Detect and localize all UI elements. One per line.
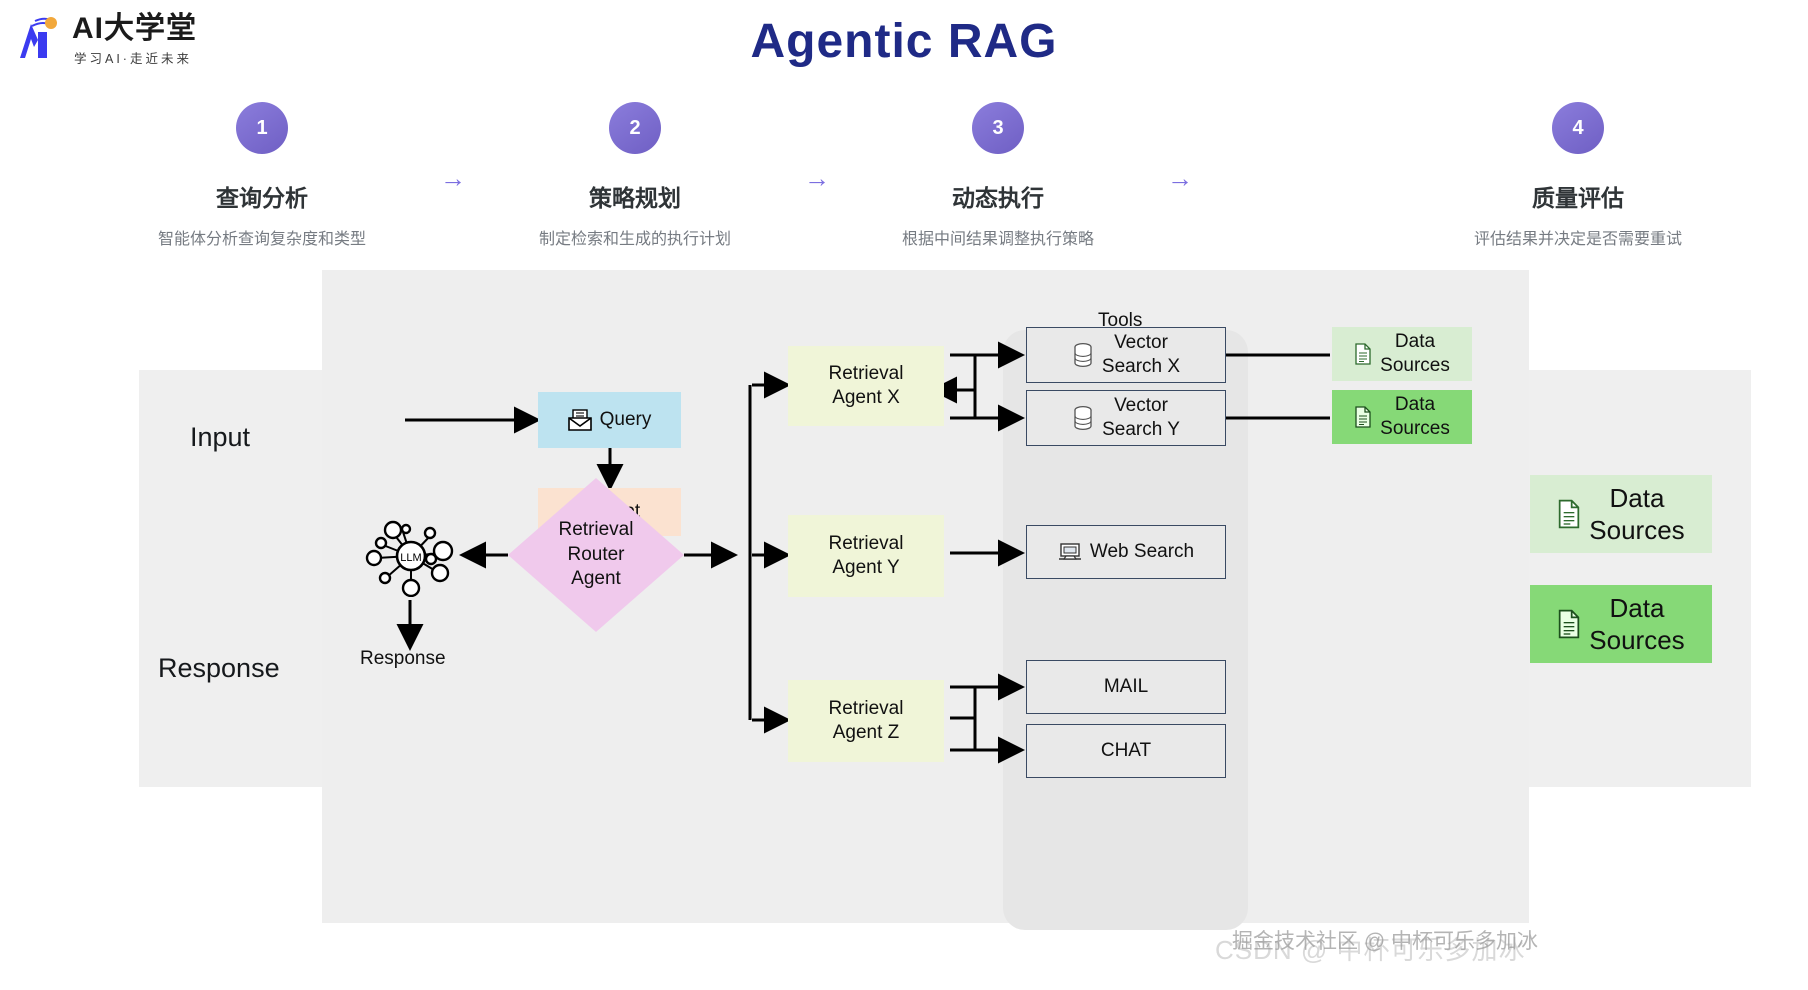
llm-network-icon: LLM	[365, 515, 457, 597]
watermark-juejin: 掘金技术社区 @ 中杯可乐多加冰	[1232, 925, 1538, 955]
step-description: 根据中间结果调整执行策略	[858, 225, 1138, 249]
step-title: 查询分析	[122, 179, 402, 213]
node-query-label: Query	[600, 408, 652, 432]
step-number-badge: 3	[972, 102, 1024, 154]
node-web-search[interactable]: Web Search	[1026, 525, 1226, 579]
node-data-sources-2[interactable]: Data Sources	[1332, 390, 1472, 444]
node-vector-search-x[interactable]: Vector Search X	[1026, 327, 1226, 383]
node-web-search-label: Web Search	[1090, 540, 1194, 564]
database-icon	[1072, 342, 1094, 368]
node-retrieval-agent-y[interactable]: Retrieval Agent Y	[788, 515, 944, 597]
ds2-line-2: Sources	[1380, 417, 1450, 441]
monitor-icon	[1058, 542, 1082, 562]
agent-y-line-1: Retrieval	[829, 532, 904, 556]
step-description: 制定检索和生成的执行计划	[495, 225, 775, 249]
node-chat[interactable]: CHAT	[1026, 724, 1226, 778]
step-1: 1 查询分析 智能体分析查询复杂度和类型	[122, 102, 402, 249]
step-title: 策略规划	[495, 179, 775, 213]
node-retrieval-router-agent[interactable]: Retrieval Router Agent	[508, 478, 684, 632]
node-query[interactable]: Query	[538, 392, 681, 448]
ds4-line-2: Sources	[1589, 624, 1684, 657]
ds2-line-1: Data	[1380, 393, 1450, 417]
label-response-output: Response	[360, 648, 446, 670]
tool-y-line-2: Search Y	[1102, 418, 1180, 442]
step-2: 2 策略规划 制定检索和生成的执行计划	[495, 102, 775, 249]
node-mail[interactable]: MAIL	[1026, 660, 1226, 714]
agent-z-line-2: Agent Z	[833, 721, 900, 745]
tool-x-line-2: Search X	[1102, 355, 1180, 379]
document-icon	[1557, 609, 1581, 639]
node-vector-search-y[interactable]: Vector Search Y	[1026, 390, 1226, 446]
ds3-line-1: Data	[1589, 482, 1684, 515]
step-title: 动态执行	[858, 179, 1138, 213]
document-icon	[1354, 343, 1372, 365]
step-4: 4 质量评估 评估结果并决定是否需要重试	[1438, 102, 1718, 249]
agent-y-line-2: Agent Y	[832, 556, 899, 580]
database-icon	[1072, 405, 1094, 431]
step-arrow-3: →	[1160, 165, 1200, 191]
ds1-line-2: Sources	[1380, 354, 1450, 378]
envelope-icon	[568, 409, 592, 431]
document-icon	[1557, 499, 1581, 529]
step-title: 质量评估	[1438, 179, 1718, 213]
tool-y-line-1: Vector	[1102, 394, 1180, 418]
document-icon	[1354, 406, 1372, 428]
step-description: 评估结果并决定是否需要重试	[1438, 225, 1718, 249]
page-title: Agentic RAG	[0, 14, 1808, 69]
node-data-sources-4[interactable]: Data Sources	[1530, 585, 1712, 663]
agent-x-line-2: Agent X	[832, 386, 900, 410]
agent-z-line-1: Retrieval	[829, 697, 904, 721]
ds3-line-2: Sources	[1589, 514, 1684, 547]
step-arrow-1: →	[433, 165, 473, 191]
ds4-line-1: Data	[1589, 592, 1684, 625]
ds1-line-1: Data	[1380, 330, 1450, 354]
node-chat-label: CHAT	[1101, 739, 1151, 763]
step-number-badge: 4	[1552, 102, 1604, 154]
node-retrieval-agent-z[interactable]: Retrieval Agent Z	[788, 680, 944, 762]
step-arrow-2: →	[797, 165, 837, 191]
router-line-2: Router	[559, 543, 634, 568]
node-data-sources-1[interactable]: Data Sources	[1332, 327, 1472, 381]
node-mail-label: MAIL	[1104, 675, 1148, 699]
node-data-sources-3[interactable]: Data Sources	[1530, 475, 1712, 553]
router-line-1: Retrieval	[559, 518, 634, 543]
router-line-3: Agent	[559, 567, 634, 592]
agent-x-line-1: Retrieval	[829, 362, 904, 386]
tool-x-line-1: Vector	[1102, 331, 1180, 355]
node-retrieval-agent-x[interactable]: Retrieval Agent X	[788, 346, 944, 426]
step-description: 智能体分析查询复杂度和类型	[122, 225, 402, 249]
step-number-badge: 1	[236, 102, 288, 154]
svg-text:LLM: LLM	[400, 552, 421, 564]
architecture-diagram: Input Response	[0, 300, 1808, 990]
step-number-badge: 2	[609, 102, 661, 154]
step-3: 3 动态执行 根据中间结果调整执行策略	[858, 102, 1138, 249]
